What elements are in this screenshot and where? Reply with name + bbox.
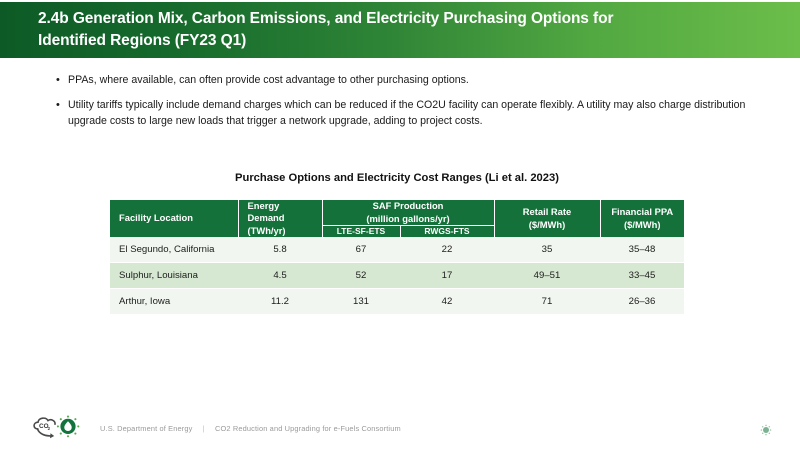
- cell-saf-rwgs-fts: 17: [400, 263, 494, 289]
- bullet-text: PPAs, where available, can often provide…: [68, 72, 746, 89]
- slide-footer: CO 2 U.S. Department of Energy | CO2 Red…: [0, 406, 800, 450]
- table-row: Arthur, Iowa 11.2 131 42 71 26–36: [110, 289, 684, 315]
- corner-leaf-mark-icon: [760, 424, 772, 436]
- bullet-list: • PPAs, where available, can often provi…: [56, 72, 746, 137]
- bullet-dot-icon: •: [56, 97, 68, 129]
- cell-saf-lte-sf-ets: 67: [322, 237, 400, 263]
- cell-retail-rate: 35: [494, 237, 600, 263]
- page-title-line-2: Identified Regions (FY23 Q1): [38, 30, 613, 52]
- col-header-facility-location: Facility Location: [110, 200, 238, 237]
- svg-text:2: 2: [48, 426, 51, 431]
- purchase-options-table: Facility Location Energy Demand (TWh/yr)…: [110, 200, 684, 315]
- cell-retail-rate: 49–51: [494, 263, 600, 289]
- cell-saf-lte-sf-ets: 52: [322, 263, 400, 289]
- col-header-financial-ppa: Financial PPA ($/MWh): [600, 200, 684, 237]
- energy-demand-line-2: Demand: [248, 212, 322, 224]
- footer-attribution: U.S. Department of Energy | CO2 Reductio…: [100, 424, 401, 433]
- col-header-saf-rwgs-fts: RWGS-FTS: [400, 226, 494, 238]
- saf-group-line-2: (million gallons/yr): [323, 213, 494, 225]
- cell-location: Arthur, Iowa: [110, 289, 238, 315]
- financial-ppa-line-2: ($/MWh): [601, 219, 685, 231]
- slide-header-band: 2.4b Generation Mix, Carbon Emissions, a…: [0, 2, 800, 58]
- footer-org: U.S. Department of Energy: [100, 424, 192, 433]
- saf-group-line-1: SAF Production: [323, 200, 494, 212]
- cell-financial-ppa: 35–48: [600, 237, 684, 263]
- cell-location: Sulphur, Louisiana: [110, 263, 238, 289]
- cell-energy-demand: 5.8: [238, 237, 322, 263]
- cell-saf-rwgs-fts: 22: [400, 237, 494, 263]
- footer-separator: |: [195, 424, 213, 433]
- cell-energy-demand: 11.2: [238, 289, 322, 315]
- cell-retail-rate: 71: [494, 289, 600, 315]
- energy-demand-line-3: (TWh/yr): [248, 225, 322, 237]
- table-body: El Segundo, California 5.8 67 22 35 35–4…: [110, 237, 684, 315]
- table-row: El Segundo, California 5.8 67 22 35 35–4…: [110, 237, 684, 263]
- cell-location: El Segundo, California: [110, 237, 238, 263]
- page-title: 2.4b Generation Mix, Carbon Emissions, a…: [0, 8, 673, 52]
- table-caption: Purchase Options and Electricity Cost Ra…: [110, 172, 684, 184]
- col-header-saf-lte-sf-ets: LTE-SF-ETS: [322, 226, 400, 238]
- co2-cloud-droplet-icon: CO 2: [30, 413, 86, 443]
- table-row: Sulphur, Louisiana 4.5 52 17 49–51 33–45: [110, 263, 684, 289]
- energy-demand-line-1: Energy: [248, 200, 322, 212]
- bullet-dot-icon: •: [56, 72, 68, 89]
- financial-ppa-line-1: Financial PPA: [601, 206, 685, 218]
- col-header-energy-demand: Energy Demand (TWh/yr): [238, 200, 322, 237]
- page-title-line-1: 2.4b Generation Mix, Carbon Emissions, a…: [38, 8, 613, 30]
- table-header-row-1: Facility Location Energy Demand (TWh/yr)…: [110, 200, 684, 226]
- bullet-text: Utility tariffs typically include demand…: [68, 97, 746, 129]
- co2-consortium-logo: CO 2: [30, 413, 86, 443]
- cell-saf-rwgs-fts: 42: [400, 289, 494, 315]
- retail-rate-line-2: ($/MWh): [495, 219, 600, 231]
- col-header-retail-rate: Retail Rate ($/MWh): [494, 200, 600, 237]
- retail-rate-line-1: Retail Rate: [495, 206, 600, 218]
- data-table-wrapper: Facility Location Energy Demand (TWh/yr)…: [110, 200, 684, 315]
- footer-consortium: CO2 Reduction and Upgrading for e-Fuels …: [215, 424, 401, 433]
- list-item: • Utility tariffs typically include dema…: [56, 97, 746, 129]
- cell-financial-ppa: 26–36: [600, 289, 684, 315]
- cell-energy-demand: 4.5: [238, 263, 322, 289]
- cell-saf-lte-sf-ets: 131: [322, 289, 400, 315]
- cell-financial-ppa: 33–45: [600, 263, 684, 289]
- list-item: • PPAs, where available, can often provi…: [56, 72, 746, 89]
- col-header-saf-production-group: SAF Production (million gallons/yr): [322, 200, 494, 226]
